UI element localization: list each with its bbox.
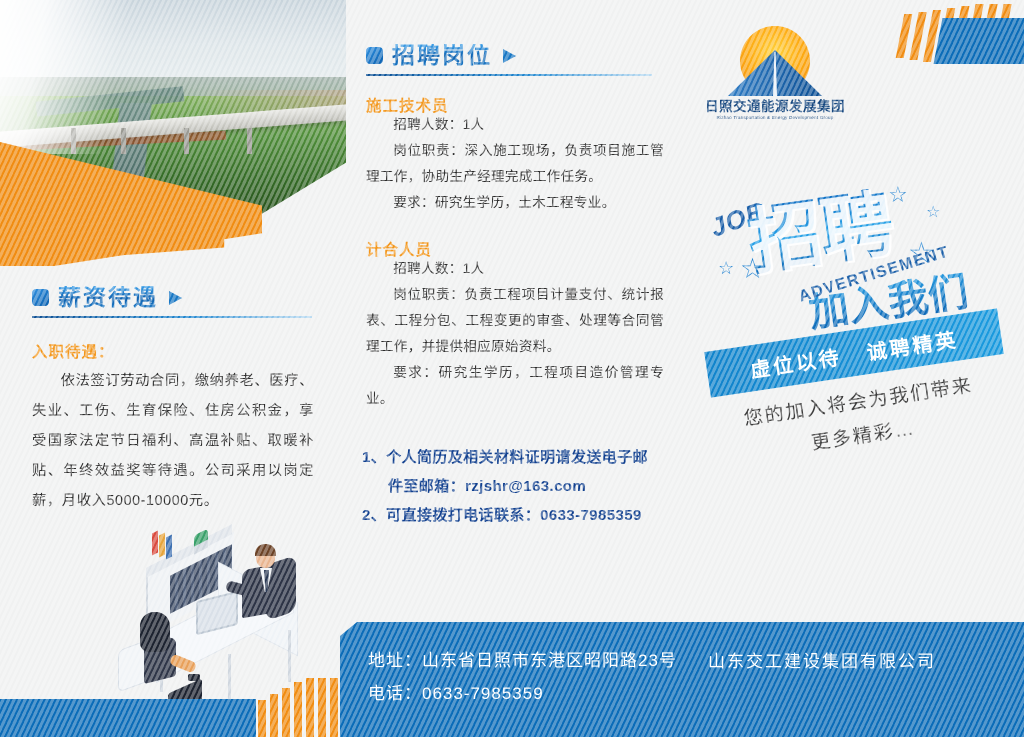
logo-name-cn: 日照交通能源发展集团	[700, 95, 850, 115]
recruitment-hero-graphic: ☆ ☆ ☆ ☆ ☆ JOB 招聘 加入我们 ADVERTISEMENT	[712, 178, 1012, 328]
bottom-orange-stripes	[258, 678, 344, 737]
job-requirement: 要求：研究生学历，工程项目造价管理专业。	[366, 360, 664, 412]
logo-name-en: Rizhao Transportation & Energy Developme…	[700, 115, 850, 120]
slogan-left: 虚位以待	[748, 341, 843, 383]
star-icon: ☆	[888, 182, 908, 208]
decorative-blue-parallelogram	[934, 18, 1024, 64]
bottom-left-blue-bar	[0, 699, 256, 737]
photo-haze-overlay	[0, 0, 142, 154]
bullet-square-icon	[32, 289, 49, 306]
brochure-page: 日照交通能源发展集团 Rizhao Transportation & Energ…	[0, 0, 1024, 737]
job-details: 招聘人数：1人 岗位职责：负责工程项目计量支付、统计报表、工程分包、工程变更的审…	[366, 256, 664, 412]
apply-line-1: 1、个人简历及相关材料证明请发送电子邮	[362, 443, 667, 472]
binder-red	[152, 530, 158, 555]
interviewer-hair	[255, 544, 276, 556]
apply-email-line[interactable]: 件至邮箱：rzjshr@163.com	[362, 472, 667, 501]
star-icon: ☆	[718, 258, 734, 279]
footer-contact: 地址：山东省日照市东港区昭阳路23号 电话：0633-7985359	[368, 644, 677, 710]
jobs-section-rule	[366, 74, 652, 76]
footer-address: 地址：山东省日照市东港区昭阳路23号	[368, 644, 677, 677]
salary-body-text: 依法签订劳动合同，缴纳养老、医疗、失业、工伤、生育保险、住房公积金，享受国家法定…	[32, 366, 314, 516]
apply-phone-line[interactable]: 2、可直接拨打电话联系：0633-7985359	[362, 501, 667, 530]
arrow-right-icon	[503, 49, 516, 63]
jobs-section-title: 招聘岗位	[392, 44, 492, 67]
job-duties: 岗位职责：负责工程项目计量支付、统计报表、工程分包、工程变更的审查、处理等合同管…	[366, 282, 664, 360]
salary-section-header: 薪资待遇	[32, 286, 182, 309]
salary-subheading: 入职待遇：	[32, 340, 115, 362]
salary-body-paragraph: 依法签订劳动合同，缴纳养老、医疗、失业、工伤、生育保险、住房公积金，享受国家法定…	[32, 366, 314, 516]
job-requirement: 要求：研究生学历，土木工程专业。	[366, 190, 664, 216]
slogan-right: 诚聘精英	[865, 323, 960, 365]
arrow-right-icon	[169, 291, 182, 305]
binder-yellow	[159, 532, 165, 557]
bullet-square-icon	[366, 47, 383, 64]
binder-blue	[166, 534, 172, 559]
job-details: 招聘人数：1人 岗位职责：深入施工现场，负责项目施工管理工作，协助生产经理完成工…	[366, 112, 664, 216]
footer-phone: 电话：0633-7985359	[368, 677, 677, 710]
footer-company-name: 山东交工建设集团有限公司	[708, 647, 936, 672]
desk-leg	[288, 630, 291, 682]
candidate-hair	[140, 612, 170, 652]
footer-panel: 地址：山东省日照市东港区昭阳路23号 电话：0633-7985359 山东交工建…	[340, 622, 1024, 737]
salary-section-rule	[32, 316, 312, 318]
job-count: 招聘人数：1人	[366, 256, 664, 282]
company-logo: 日照交通能源发展集团 Rizhao Transportation & Energ…	[700, 24, 850, 124]
bridge-pier	[247, 128, 252, 154]
job-duties: 岗位职责：深入施工现场，负责项目施工管理工作，协助生产经理完成工作任务。	[366, 138, 664, 190]
jobs-section-header: 招聘岗位	[366, 44, 516, 67]
bridge-pier	[184, 128, 189, 154]
job-interview-illustration	[60, 518, 340, 703]
star-icon: ☆	[926, 202, 940, 222]
logo-mark	[700, 24, 850, 96]
application-instructions: 1、个人简历及相关材料证明请发送电子邮 件至邮箱：rzjshr@163.com …	[362, 443, 667, 530]
job-count: 招聘人数：1人	[366, 112, 664, 138]
salary-section-title: 薪资待遇	[58, 286, 158, 309]
